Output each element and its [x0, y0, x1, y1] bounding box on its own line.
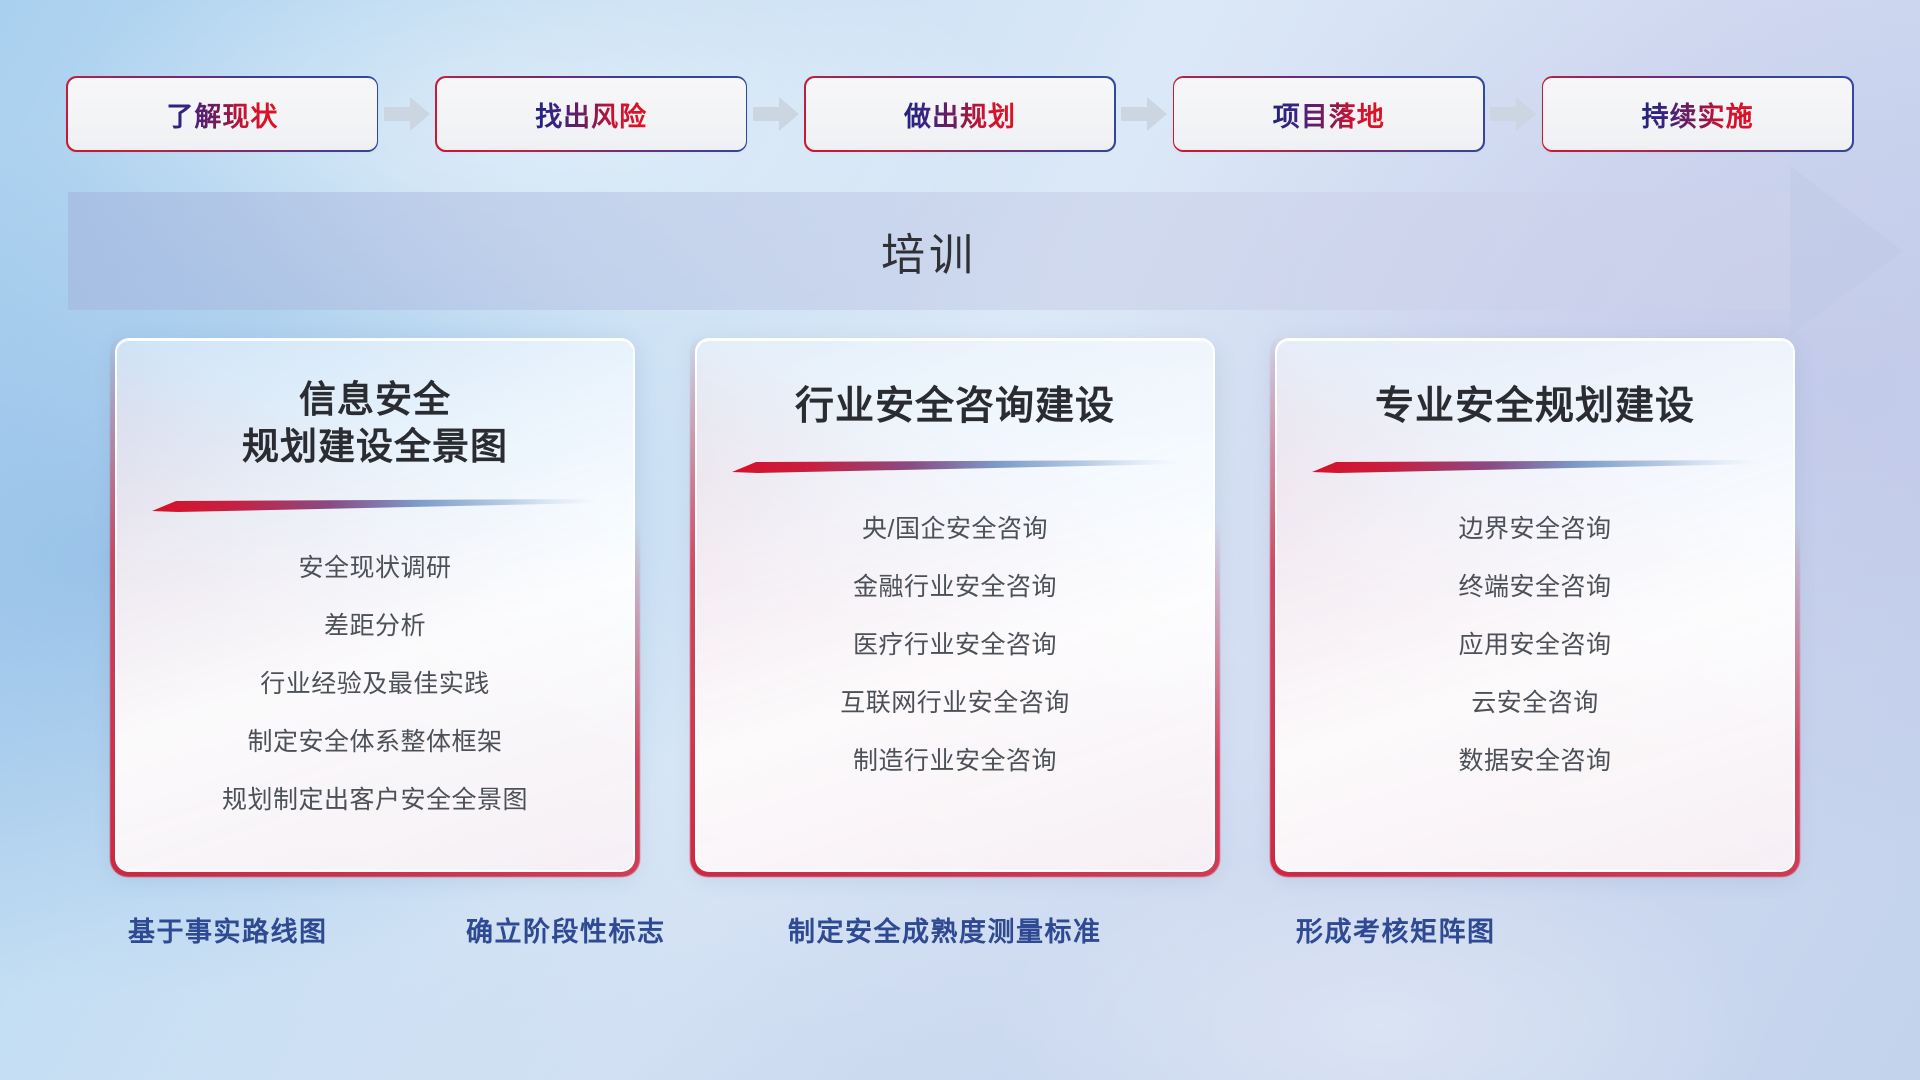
caption-milestone: 确立阶段性标志 — [466, 910, 666, 949]
step-label: 找出风险 — [535, 95, 647, 134]
list-item: 互联网行业安全咨询 — [697, 678, 1213, 728]
list-item: 医疗行业安全咨询 — [697, 620, 1213, 670]
card-professional-security-planning[interactable]: 专业安全规划建设 — [1275, 338, 1795, 872]
caption-row: 基于事实路线图 确立阶段性标志 制定安全成熟度测量标准 形成考核矩阵图 — [0, 910, 1920, 970]
card-title-line: 专业安全规划建设 — [1277, 382, 1793, 432]
card-item-list: 安全现状调研 差距分析 行业经验及最佳实践 制定安全体系整体框架 规划制定出客户… — [117, 543, 633, 825]
list-item: 数据安全咨询 — [1277, 736, 1793, 786]
card-information-security-panorama[interactable]: 信息安全 规划建设全景图 — [115, 338, 635, 872]
caption-matrix: 形成考核矩阵图 — [1296, 910, 1496, 949]
card-row: 信息安全 规划建设全景图 — [0, 338, 1920, 872]
step-box-4[interactable]: 项目落地 — [1174, 78, 1483, 150]
card-title: 信息安全 规划建设全景图 — [117, 376, 633, 471]
gradient-divider-icon — [732, 460, 1178, 474]
arrow-right-icon — [1114, 78, 1174, 150]
process-step-row: 了解现状 找出风险 做出规划 项目落地 持续实施 — [68, 78, 1852, 150]
card-item-list: 央/国企安全咨询 金融行业安全咨询 医疗行业安全咨询 互联网行业安全咨询 制造行… — [697, 504, 1213, 786]
training-banner: 培训 — [68, 192, 1858, 310]
list-item: 安全现状调研 — [117, 543, 633, 593]
arrow-right-icon — [1483, 78, 1543, 150]
list-item: 终端安全咨询 — [1277, 562, 1793, 612]
step-label: 做出规划 — [904, 95, 1016, 134]
caption-roadmap: 基于事实路线图 — [128, 910, 328, 949]
list-item: 制定安全体系整体框架 — [117, 717, 633, 767]
list-item: 金融行业安全咨询 — [697, 562, 1213, 612]
step-label: 了解现状 — [166, 95, 278, 134]
list-item: 制造行业安全咨询 — [697, 736, 1213, 786]
arrow-right-icon — [746, 78, 806, 150]
card-industry-security-consulting[interactable]: 行业安全咨询建设 — [695, 338, 1215, 872]
list-item: 行业经验及最佳实践 — [117, 659, 633, 709]
card-title-line: 规划建设全景图 — [117, 423, 633, 470]
step-box-2[interactable]: 找出风险 — [437, 78, 746, 150]
list-item: 边界安全咨询 — [1277, 504, 1793, 554]
gradient-divider-icon — [1312, 460, 1758, 474]
step-box-1[interactable]: 了解现状 — [68, 78, 377, 150]
arrow-right-icon — [377, 78, 437, 150]
step-box-5[interactable]: 持续实施 — [1543, 78, 1852, 150]
banner-title: 培训 — [68, 192, 1790, 310]
card-title-line: 信息安全 — [117, 376, 633, 423]
card-title: 行业安全咨询建设 — [697, 382, 1213, 432]
card-item-list: 边界安全咨询 终端安全咨询 应用安全咨询 云安全咨询 数据安全咨询 — [1277, 504, 1793, 786]
step-box-3[interactable]: 做出规划 — [806, 78, 1115, 150]
list-item: 应用安全咨询 — [1277, 620, 1793, 670]
list-item: 差距分析 — [117, 601, 633, 651]
step-label: 持续实施 — [1642, 95, 1754, 134]
banner-arrow-tip-icon — [1790, 166, 1903, 336]
list-item: 规划制定出客户安全全景图 — [117, 775, 633, 825]
step-label: 项目落地 — [1273, 95, 1385, 134]
gradient-divider-icon — [152, 499, 598, 513]
list-item: 云安全咨询 — [1277, 678, 1793, 728]
caption-maturity: 制定安全成熟度测量标准 — [788, 910, 1102, 949]
list-item: 央/国企安全咨询 — [697, 504, 1213, 554]
card-title: 专业安全规划建设 — [1277, 382, 1793, 432]
card-title-line: 行业安全咨询建设 — [697, 382, 1213, 432]
